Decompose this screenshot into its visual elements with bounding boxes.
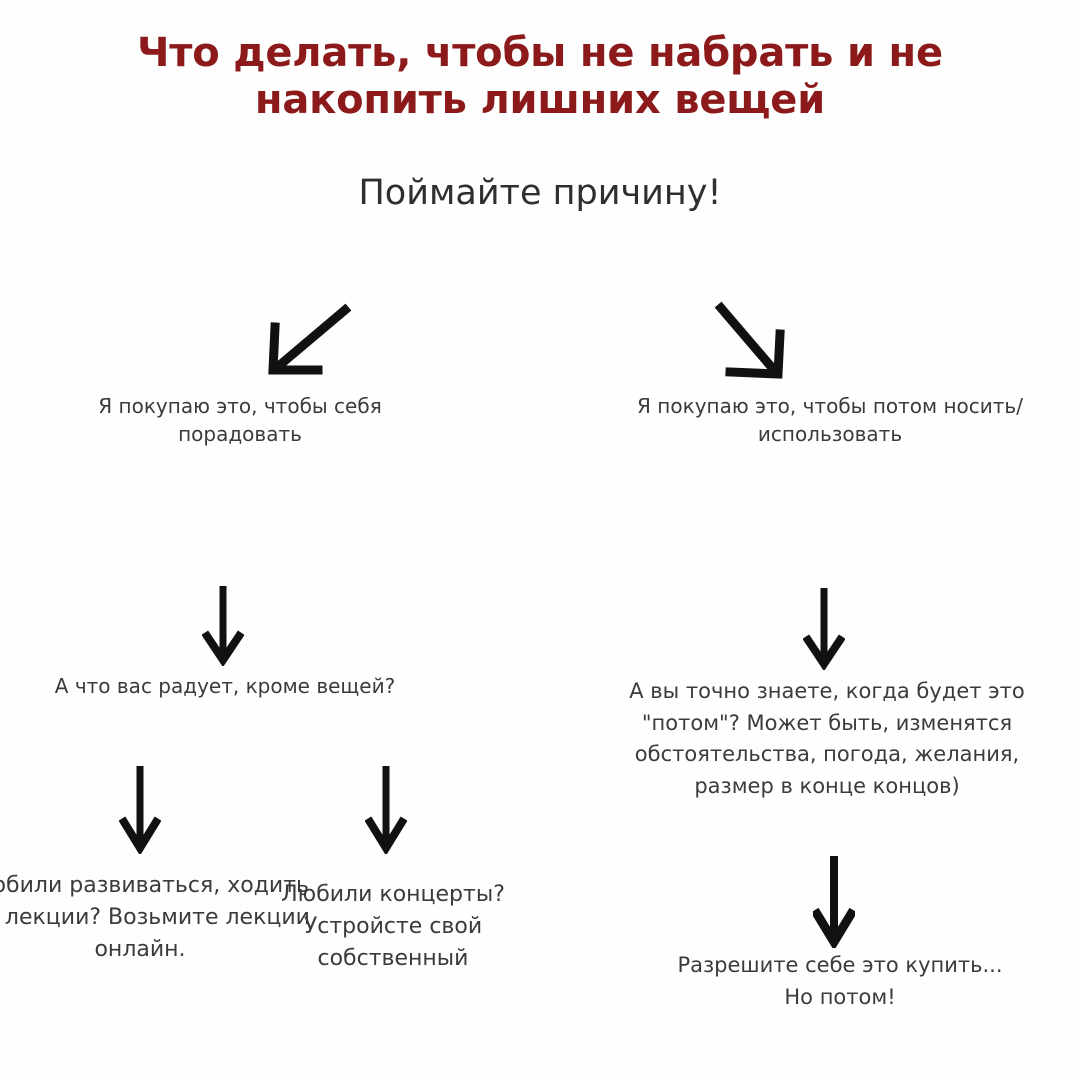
arrow-down-left-level2 [202, 586, 244, 666]
arrow-down-left-to-left-branch [258, 300, 358, 384]
flow-node-left-level3-b: Любили концерты? Устройсте свой собствен… [258, 879, 528, 975]
arrow-down-left-level3-a [119, 766, 161, 854]
flow-node-left-level1: Я покупаю это, чтобы себя порадовать [40, 392, 440, 449]
flow-node-right-level1: Я покупаю это, чтобы потом носить/ испол… [620, 392, 1040, 449]
arrow-down-right-to-right-branch [708, 300, 808, 386]
page-title: Что делать, чтобы не набрать и не накопи… [60, 30, 1020, 124]
page-subtitle: Поймайте причину! [140, 172, 940, 214]
arrow-down-right-level3 [813, 856, 855, 948]
arrow-down-right-level2 [803, 588, 845, 670]
flow-node-right-level2: А вы точно знаете, когда будет это "пото… [612, 676, 1042, 802]
infographic-canvas: Что делать, чтобы не набрать и не накопи… [0, 0, 1080, 1080]
flow-node-right-level3: Разрешите себе это купить... Но потом! [660, 950, 1020, 1013]
arrow-down-left-level3-b [365, 766, 407, 854]
flow-node-left-level2: А что вас радует, кроме вещей? [30, 672, 420, 700]
